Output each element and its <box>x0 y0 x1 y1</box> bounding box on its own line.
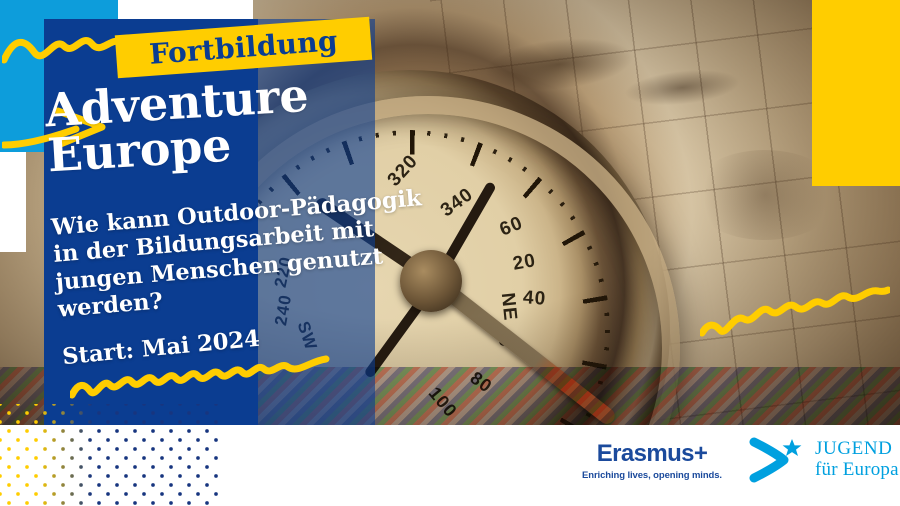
jugend-line-2: für Europa <box>815 460 899 481</box>
yellow-accent-block <box>812 0 900 186</box>
jugend-fuer-europa-logo: JUGEND für Europa <box>748 437 899 483</box>
fortbildung-badge-label: Fortbildung <box>148 24 339 71</box>
jugend-line-1: JUGEND <box>815 439 899 460</box>
jugend-chevron-star-icon <box>748 437 806 483</box>
dot-grid-yellow <box>0 404 92 506</box>
poster-canvas: 320 340 60 20 40 NE 60 80 100 220 240 SW <box>0 0 900 506</box>
yellow-squiggle-right-icon <box>700 285 890 341</box>
erasmus-wordmark: Erasmus+ <box>572 442 732 466</box>
erasmus-tagline: Enriching lives, opening minds. <box>572 470 732 481</box>
jugend-wordmark: JUGEND für Europa <box>815 439 899 480</box>
erasmus-plus-logo: Erasmus+ Enriching lives, opening minds. <box>572 442 732 481</box>
